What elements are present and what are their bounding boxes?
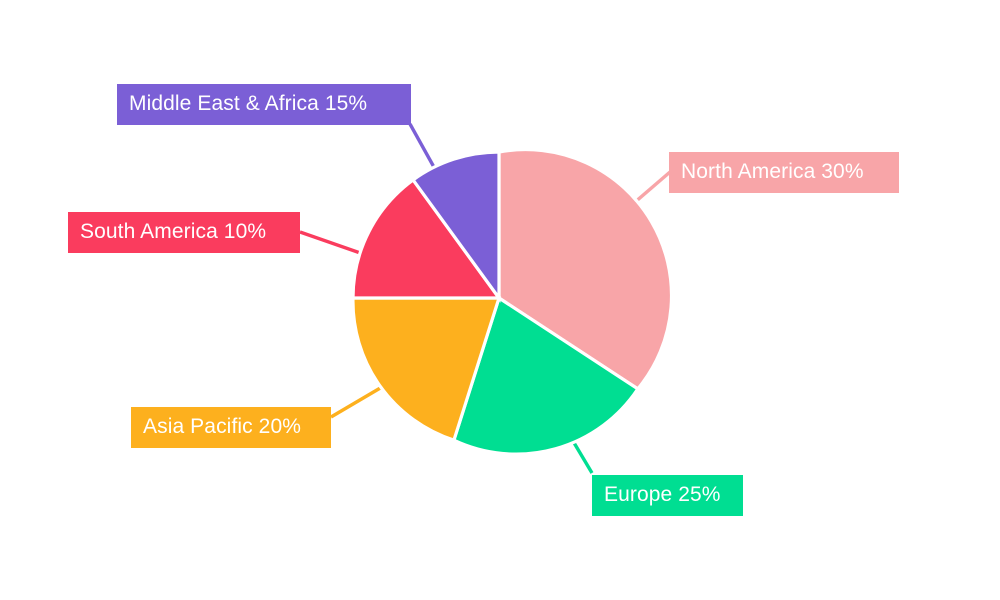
leader-line-middle-east-africa <box>410 124 435 169</box>
pie-label-europe[interactable]: Europe 25% <box>592 475 743 516</box>
leader-line-south-america <box>300 232 366 255</box>
pie-label-north-america[interactable]: North America 30% <box>669 152 899 193</box>
pie-slices <box>353 150 672 455</box>
leader-line-asia-pacific <box>331 387 382 417</box>
pie-label-europe-text: Europe 25% <box>604 484 721 505</box>
pie-chart-figure: Middle East & Africa 15% North America 3… <box>0 0 1000 600</box>
pie-label-middle-east-africa-text: Middle East & Africa 15% <box>129 93 367 114</box>
pie-label-north-america-text: North America 30% <box>681 161 864 182</box>
pie-label-middle-east-africa[interactable]: Middle East & Africa 15% <box>117 84 411 125</box>
pie-label-asia-pacific[interactable]: Asia Pacific 20% <box>131 407 331 448</box>
pie-label-asia-pacific-text: Asia Pacific 20% <box>143 416 301 437</box>
pie-label-south-america[interactable]: South America 10% <box>68 212 300 253</box>
pie-label-south-america-text: South America 10% <box>80 221 266 242</box>
